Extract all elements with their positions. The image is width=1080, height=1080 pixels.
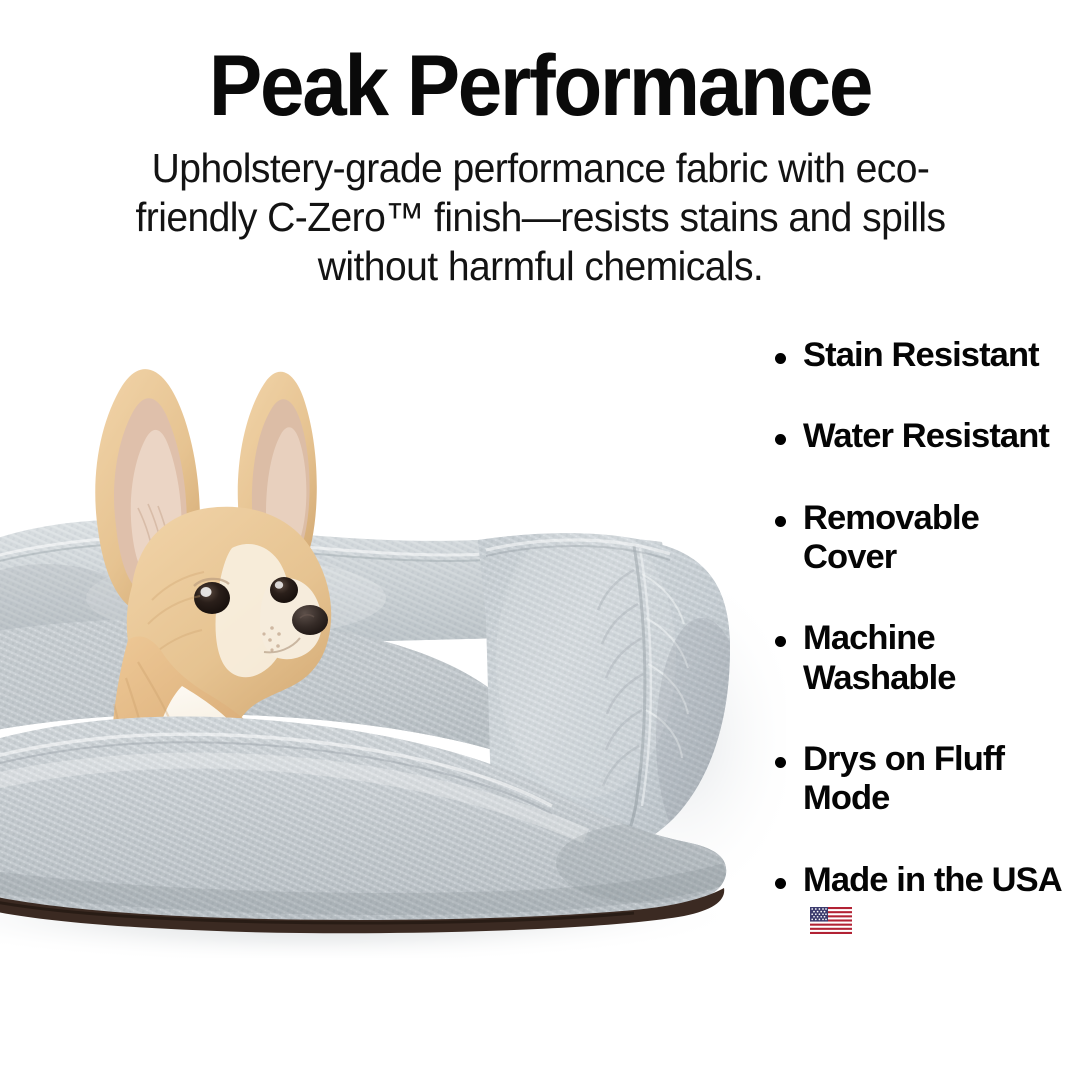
dog-eye-right bbox=[270, 577, 298, 603]
feature-label: Water Resistant bbox=[803, 417, 1049, 456]
feature-label: Drys on Fluff Mode bbox=[803, 740, 1065, 819]
page-title: Peak Performance bbox=[38, 44, 1042, 128]
product-photo bbox=[0, 318, 786, 958]
feature-label: Removable Cover bbox=[803, 499, 1065, 578]
bullet-icon bbox=[775, 878, 786, 889]
page-subtitle: Upholstery-grade performance fabric with… bbox=[103, 144, 976, 291]
feature-label-line1: Made in the bbox=[803, 861, 983, 899]
bullet-icon bbox=[775, 434, 786, 445]
feature-label: Machine Washable bbox=[803, 619, 1065, 698]
header: Peak Performance Upholstery-grade perfor… bbox=[0, 0, 1080, 291]
feature-label: Made in the USA bbox=[803, 861, 1065, 940]
dog-nose bbox=[292, 605, 328, 635]
feature-item-water-resistant: Water Resistant bbox=[775, 417, 1075, 456]
feature-item-made-in-usa: Made in the USA bbox=[775, 861, 1075, 940]
feature-item-removable-cover: Removable Cover bbox=[775, 499, 1075, 578]
bullet-icon bbox=[775, 353, 786, 364]
feature-item-machine-washable: Machine Washable bbox=[775, 619, 1075, 698]
feature-item-stain-resistant: Stain Resistant bbox=[775, 336, 1075, 375]
bullet-icon bbox=[775, 516, 786, 527]
us-flag-icon bbox=[810, 904, 852, 931]
bullet-icon bbox=[775, 757, 786, 768]
feature-label: Stain Resistant bbox=[803, 336, 1039, 375]
feature-item-drys-on-fluff-mode: Drys on Fluff Mode bbox=[775, 740, 1075, 819]
product-feature-card: Peak Performance Upholstery-grade perfor… bbox=[0, 0, 1080, 1080]
bullet-icon bbox=[775, 636, 786, 647]
feature-list: Stain Resistant Water Resistant Removabl… bbox=[775, 336, 1075, 939]
feature-label-line2: USA bbox=[992, 861, 1062, 899]
